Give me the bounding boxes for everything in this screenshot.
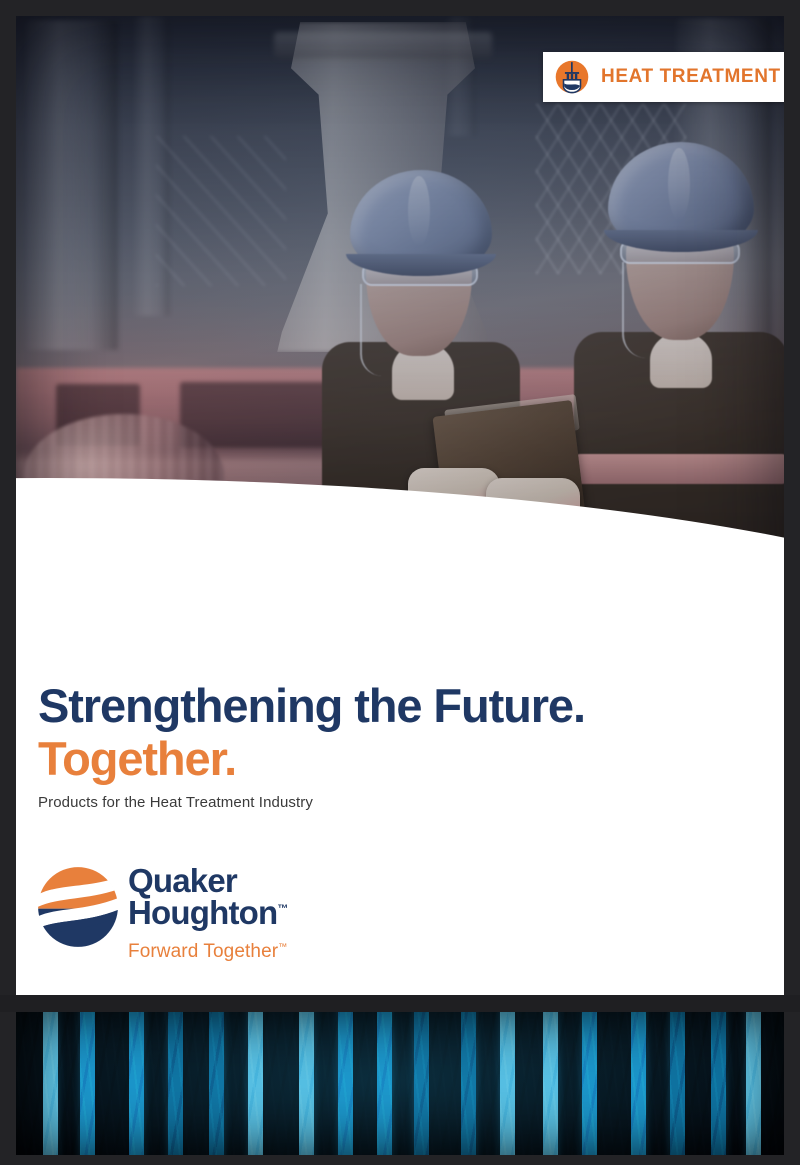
frame-border-left <box>0 0 16 1165</box>
frame-border-top <box>0 0 800 16</box>
bottom-image-strip <box>16 1012 784 1155</box>
brochure-cover-page: HEAT TREATMENT Strengthening the Future.… <box>0 0 800 1165</box>
logo-word-line-1: Quaker <box>128 865 288 897</box>
page-title: Strengthening the Future. Together. <box>38 680 585 785</box>
logo-wordmark: Quaker Houghton™ <box>128 865 288 928</box>
subtitle: Products for the Heat Treatment Industry <box>38 794 313 811</box>
logo-tagline-text: Forward Together <box>128 941 278 962</box>
logo-word-line-2: Houghton™ <box>128 897 288 929</box>
logo-tagline-trademark: ™ <box>278 942 287 952</box>
logo-tagline: Forward Together™ <box>128 941 287 963</box>
heat-treatment-badge: HEAT TREATMENT <box>543 52 786 102</box>
quench-tank-icon <box>555 60 589 94</box>
quaker-houghton-logo: Quaker Houghton™ Forward Together™ <box>36 863 296 967</box>
content-panel: Strengthening the Future. Together. Prod… <box>16 545 784 995</box>
headline-line-1: Strengthening the Future. <box>38 680 585 733</box>
logo-word-houghton: Houghton <box>128 894 277 931</box>
logo-trademark: ™ <box>277 903 288 915</box>
frame-border-right <box>784 0 800 1165</box>
quaker-houghton-globe-mark <box>36 865 120 949</box>
frame-gap-divider <box>0 995 800 1012</box>
frame-border-bottom <box>0 1155 800 1165</box>
headline-line-2: Together. <box>38 733 585 786</box>
badge-label: HEAT TREATMENT <box>601 66 781 88</box>
strip-vignette <box>16 1012 784 1155</box>
